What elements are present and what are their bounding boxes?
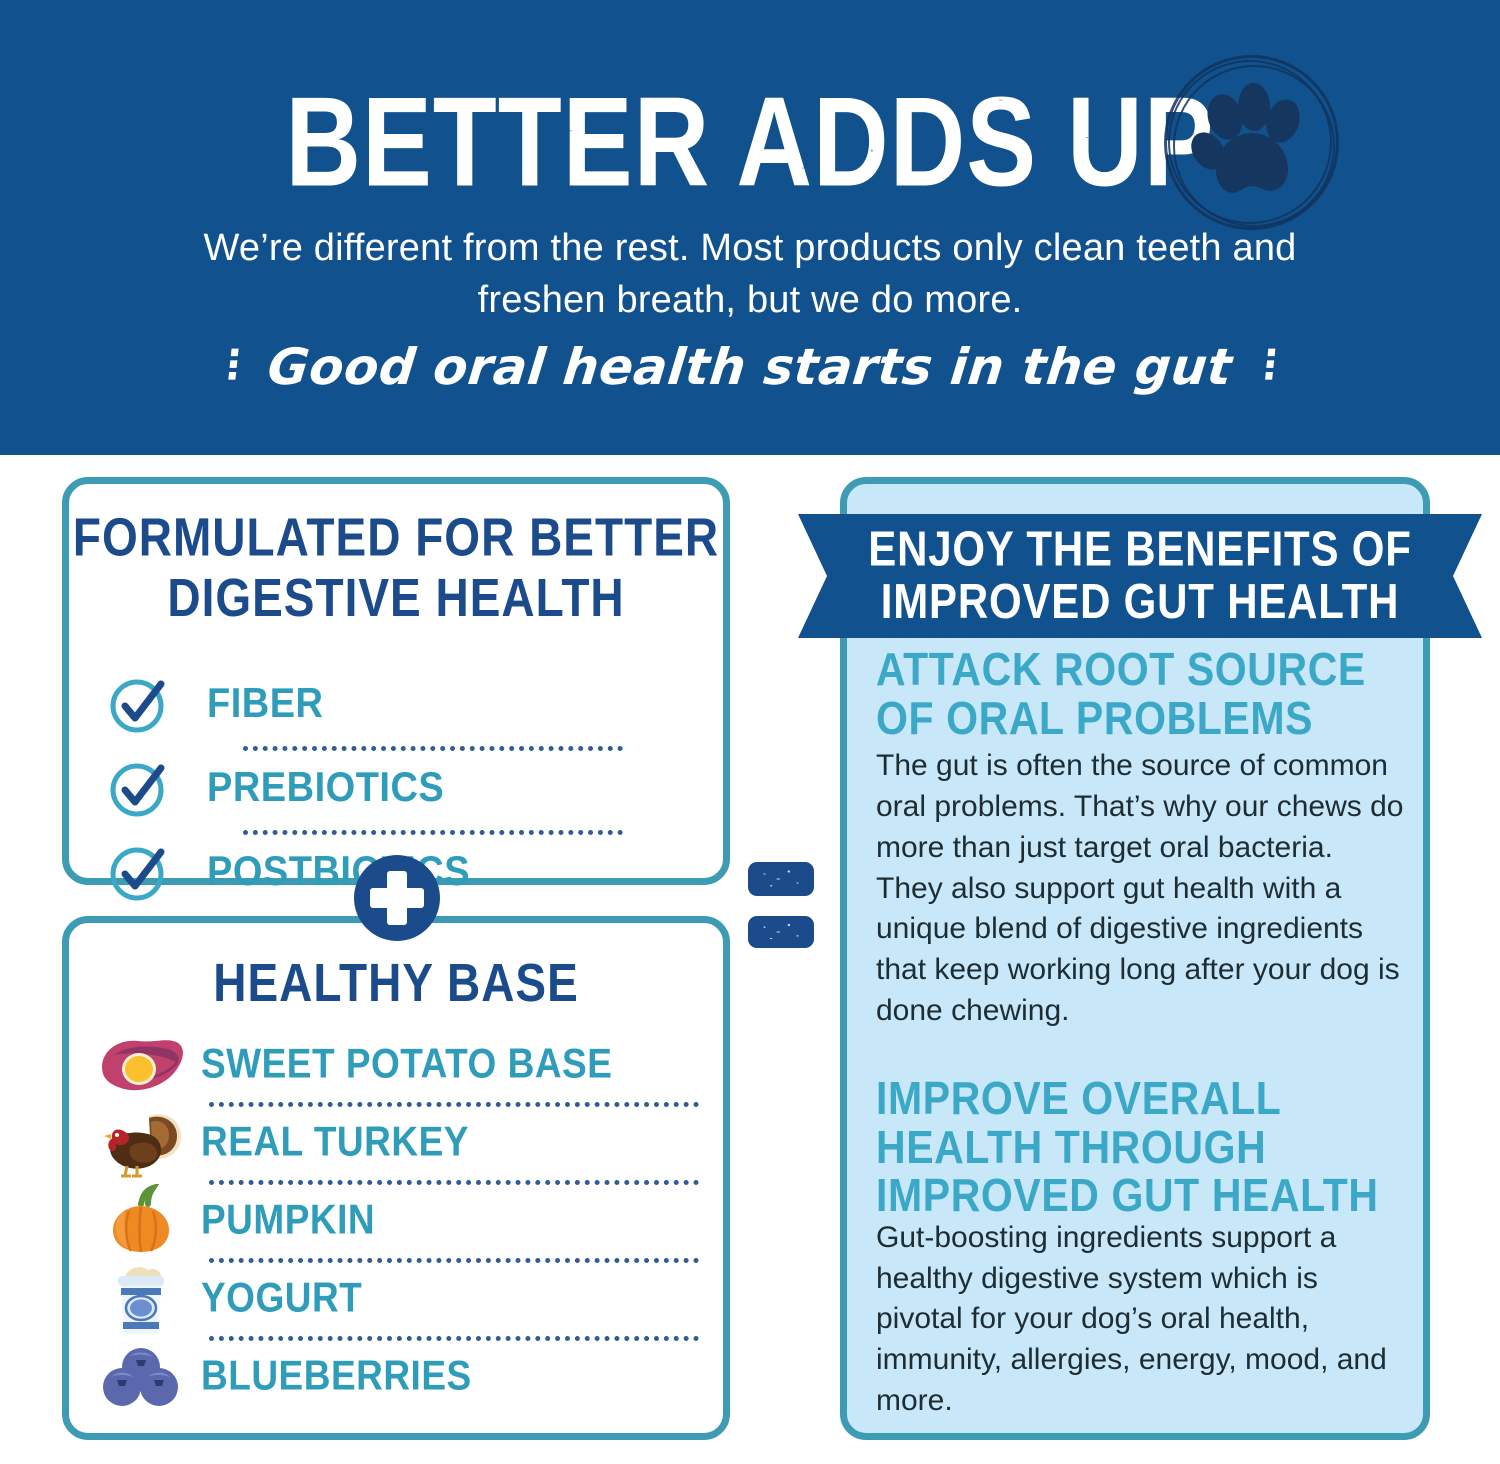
plus-icon bbox=[354, 855, 440, 941]
tagline-dash-left: ⋮ bbox=[211, 342, 253, 388]
header-tagline: ⋮ Good oral health starts in the gut ⋮ bbox=[0, 338, 1500, 396]
formulated-card-title: FORMULATED FOR BETTER DIGESTIVE HEALTH bbox=[69, 508, 723, 628]
divider-dotted bbox=[209, 1255, 699, 1263]
list-item: YOGURT bbox=[91, 1263, 697, 1333]
ingredient-label-blueberries: BLUEBERRIES bbox=[201, 1352, 472, 1399]
benefit-heading: IMPROVE OVERALL HEALTH THROUGH IMPROVED … bbox=[876, 1074, 1406, 1220]
divider-dotted bbox=[243, 741, 623, 751]
ingredient-label-sweet-potato: SWEET POTATO BASE bbox=[201, 1040, 612, 1087]
list-item: PREBIOTICS bbox=[103, 751, 689, 825]
blueberries-icon bbox=[91, 1342, 191, 1410]
list-item: PUMPKIN bbox=[91, 1185, 697, 1255]
check-circle-icon bbox=[103, 841, 175, 903]
header-banner: BETTER ADDS UP We’re different from the … bbox=[0, 0, 1500, 455]
benefit-block-attack-root-source: ATTACK ROOT SOURCE OF ORAL PROBLEMS The … bbox=[876, 645, 1406, 1032]
equals-texture bbox=[748, 862, 814, 896]
healthy-base-card: HEALTHY BASE SWEET POTATO BASE bbox=[62, 916, 730, 1440]
formulated-card: FORMULATED FOR BETTER DIGESTIVE HEALTH F… bbox=[62, 477, 730, 885]
list-item: FIBER bbox=[103, 667, 689, 741]
check-circle-icon bbox=[103, 673, 175, 735]
equals-texture bbox=[748, 916, 814, 948]
benefit-heading: ATTACK ROOT SOURCE OF ORAL PROBLEMS bbox=[876, 645, 1406, 742]
check-label-prebiotics: PREBIOTICS bbox=[207, 764, 444, 811]
yogurt-icon bbox=[91, 1260, 191, 1336]
tagline-text: Good oral health starts in the gut bbox=[265, 338, 1235, 396]
divider-dotted bbox=[209, 1177, 699, 1185]
list-item: REAL TURKEY bbox=[91, 1107, 697, 1177]
divider-dotted bbox=[209, 1333, 699, 1341]
tagline-dash-right: ⋮ bbox=[1248, 342, 1290, 388]
benefits-banner-ribbon: ENJOY THE BENEFITS OF IMPROVED GUT HEALT… bbox=[798, 514, 1482, 638]
benefit-body-text: The gut is often the source of common or… bbox=[876, 746, 1406, 1032]
benefits-banner-title: ENJOY THE BENEFITS OF IMPROVED GUT HEALT… bbox=[798, 524, 1482, 628]
equals-bar-top bbox=[748, 862, 814, 896]
divider-dotted bbox=[209, 1099, 699, 1107]
list-item: SWEET POTATO BASE bbox=[91, 1029, 697, 1099]
healthy-base-card-title: HEALTHY BASE bbox=[69, 951, 723, 1014]
ingredient-label-pumpkin: PUMPKIN bbox=[201, 1196, 375, 1243]
check-circle-icon bbox=[103, 757, 175, 819]
check-label-fiber: FIBER bbox=[207, 680, 324, 727]
ingredient-label-yogurt: YOGURT bbox=[201, 1274, 362, 1321]
benefit-block-improve-overall-health: IMPROVE OVERALL HEALTH THROUGH IMPROVED … bbox=[876, 1074, 1406, 1422]
divider-dotted bbox=[243, 825, 623, 835]
turkey-icon bbox=[91, 1106, 191, 1178]
paw-print-icon bbox=[1164, 55, 1339, 230]
benefits-content: ATTACK ROOT SOURCE OF ORAL PROBLEMS The … bbox=[876, 645, 1406, 1422]
header-subtitle: We’re different from the rest. Most prod… bbox=[190, 222, 1310, 327]
benefit-body-text: Gut-boosting ingredients support a healt… bbox=[876, 1218, 1406, 1422]
list-item: BLUEBERRIES bbox=[91, 1341, 697, 1411]
equals-bar-bottom bbox=[748, 916, 814, 948]
sweet-potato-icon bbox=[91, 1033, 191, 1095]
healthy-base-ingredient-list: SWEET POTATO BASE REAL T bbox=[69, 1029, 723, 1411]
ingredient-label-turkey: REAL TURKEY bbox=[201, 1118, 469, 1165]
equals-icon bbox=[748, 862, 814, 958]
pumpkin-icon bbox=[91, 1184, 191, 1256]
